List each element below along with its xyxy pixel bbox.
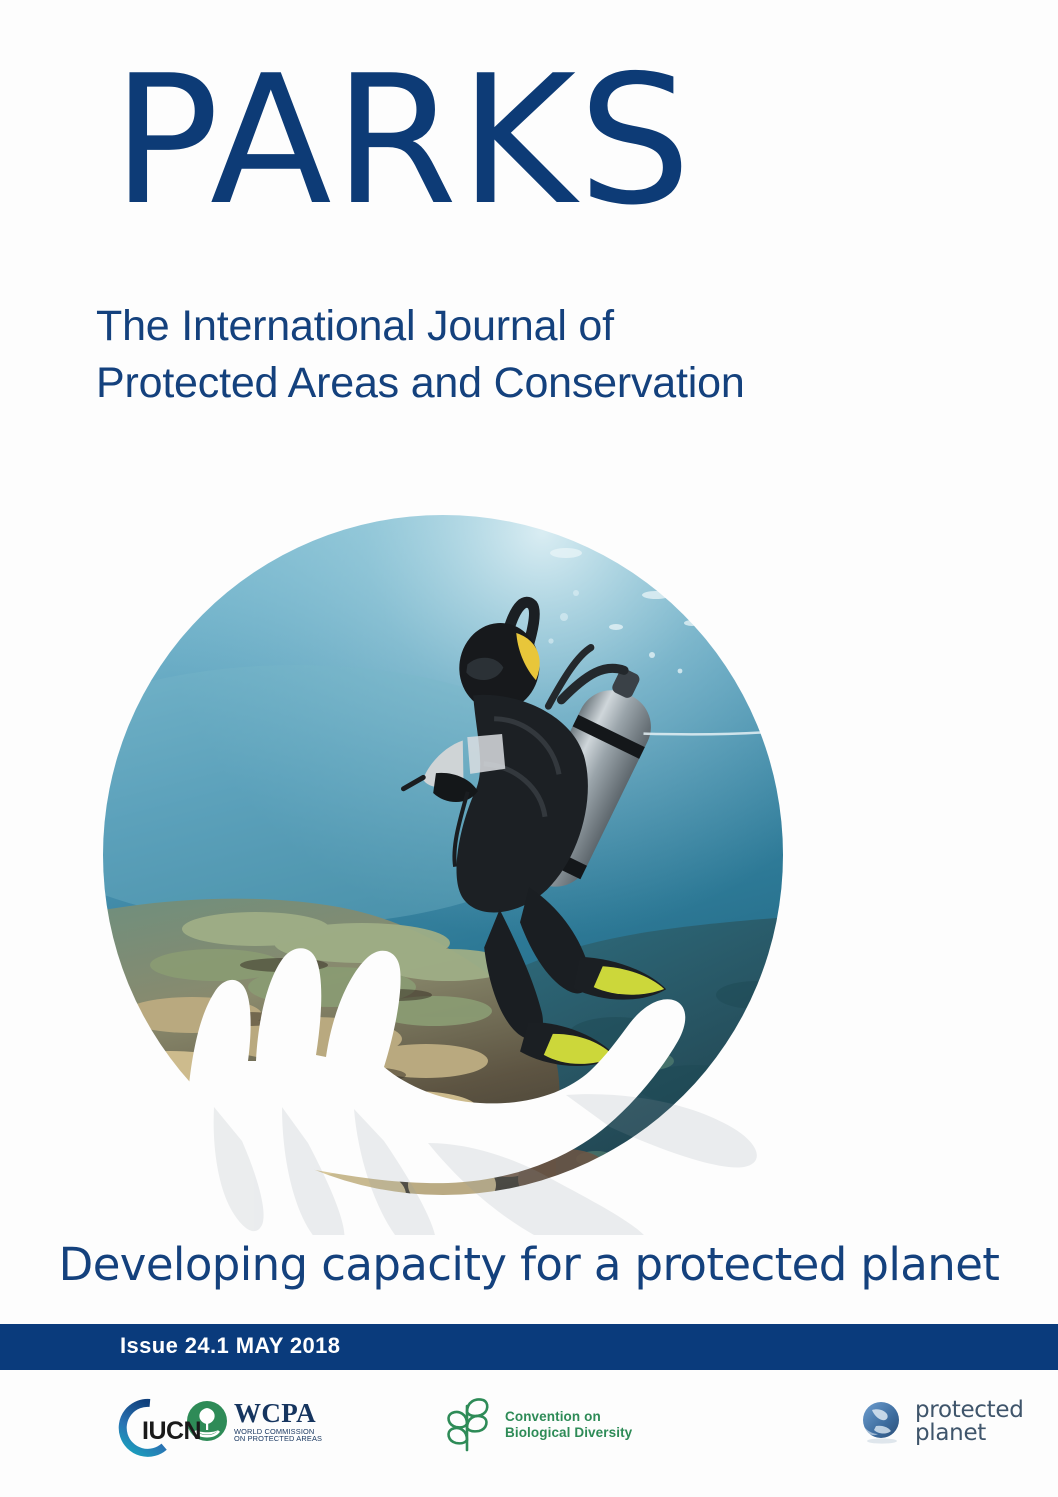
wcpa-subtitle: WORLD COMMISSION ON PROTECTED AREAS <box>234 1428 322 1443</box>
journal-subtitle-line-1: The International Journal of <box>96 298 745 355</box>
wcpa-text-block: WCPA WORLD COMMISSION ON PROTECTED AREAS <box>234 1400 322 1443</box>
journal-subtitle: The International Journal of Protected A… <box>96 298 745 412</box>
cover-photo <box>96 495 816 1235</box>
page-title: PARKS <box>112 52 693 230</box>
iucn-wordmark: IUCN <box>142 1417 201 1446</box>
cbd-leaf-icon <box>443 1396 495 1454</box>
cbd-line-2: Biological Diversity <box>505 1425 632 1441</box>
wcpa-wordmark: WCPA <box>234 1400 322 1427</box>
issue-label: Issue 24.1 MAY 2018 <box>120 1333 340 1359</box>
protected-planet-line-1: protected <box>915 1399 1024 1422</box>
cbd-line-1: Convention on <box>505 1409 632 1425</box>
logo-cbd[interactable]: Convention on Biological Diversity <box>443 1396 632 1454</box>
wcpa-subtitle-line-2: ON PROTECTED AREAS <box>234 1435 322 1442</box>
cover-tagline: Developing capacity for a protected plan… <box>0 1238 1058 1291</box>
protected-planet-line-2: planet <box>915 1422 1024 1445</box>
globe-icon <box>858 1398 906 1446</box>
cbd-text-block: Convention on Biological Diversity <box>505 1409 632 1442</box>
logo-protected-planet[interactable]: protected planet <box>858 1398 1024 1446</box>
journal-subtitle-line-2: Protected Areas and Conservation <box>96 355 745 412</box>
logo-strip: IUCN WCPA WORLD COMMISSION ON PROTECTED … <box>0 1392 1058 1472</box>
logo-wcpa[interactable]: WCPA WORLD COMMISSION ON PROTECTED AREAS <box>186 1400 322 1443</box>
protected-planet-text-block: protected planet <box>915 1399 1024 1446</box>
